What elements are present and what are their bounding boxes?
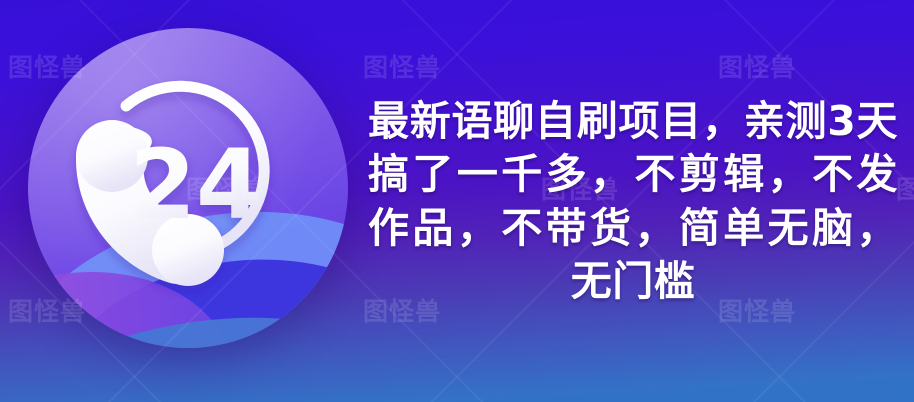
badge-number-24: 24 (129, 129, 263, 241)
promo-banner: 24 最新语聊自刷项目，亲测3天搞了一千多，不剪辑，不发作品，不带货，简单无脑，… (0, 0, 914, 402)
24-hour-phone-support-icon: 24 (28, 28, 348, 348)
headline-text: 最新语聊自刷项目，亲测3天搞了一千多，不剪辑，不发作品，不带货，简单无脑，无门槛 (368, 95, 898, 308)
icon-badge-circle: 24 (28, 28, 348, 348)
watermark-text: 图怪兽 (718, 48, 796, 84)
watermark-text: 图怪兽 (363, 48, 441, 84)
watermark-text: 图怪兽 (896, 170, 914, 206)
